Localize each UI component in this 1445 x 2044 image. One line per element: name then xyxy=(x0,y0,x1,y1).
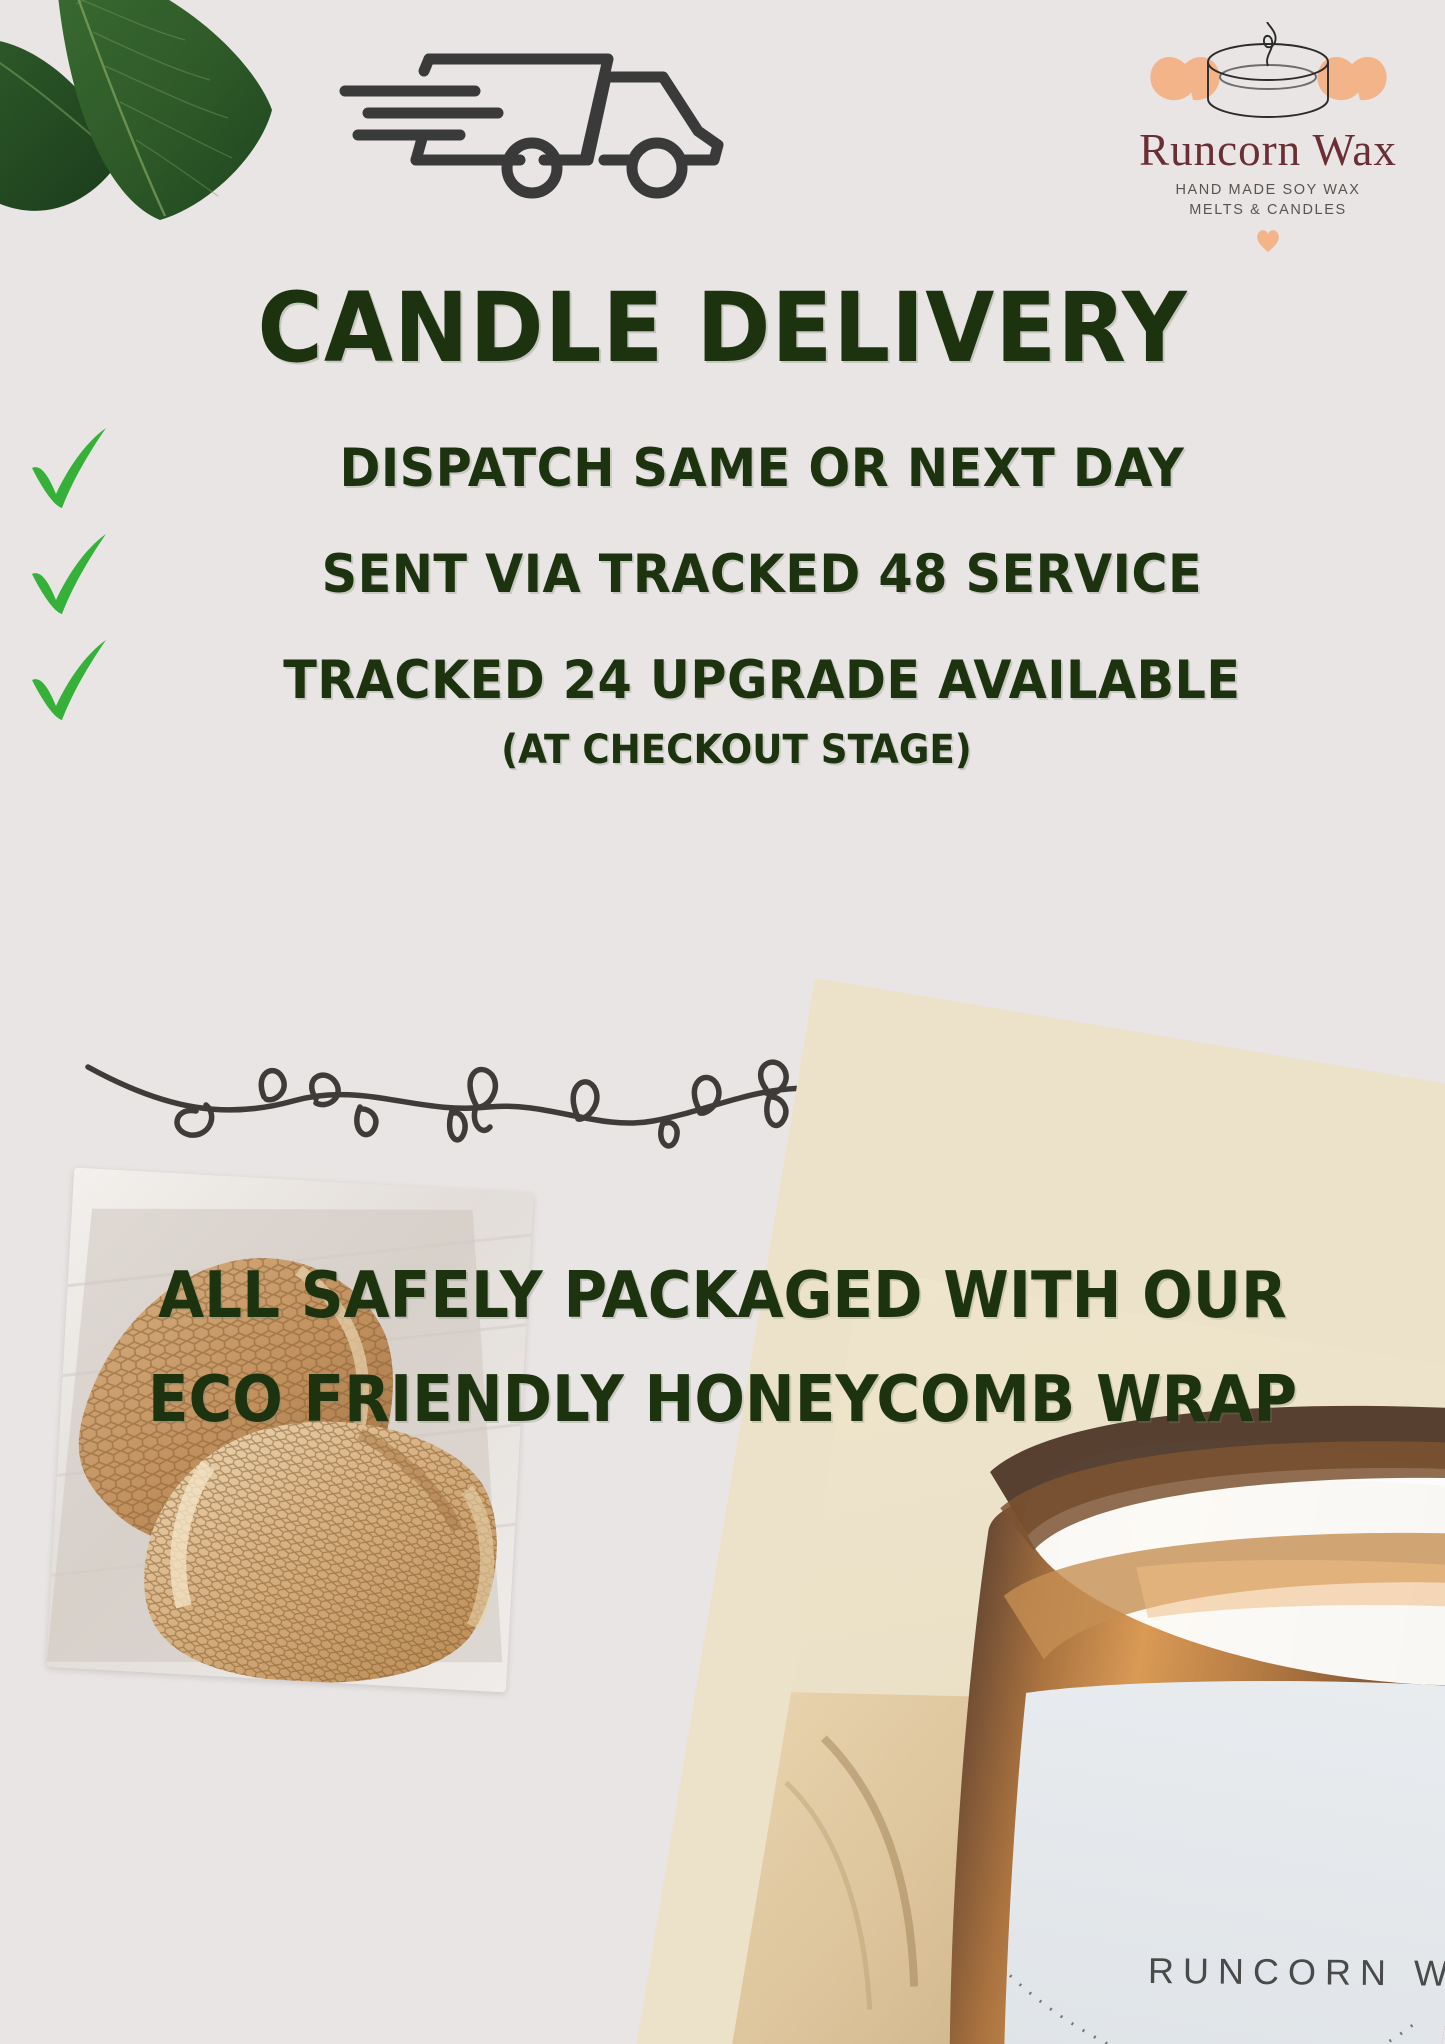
brand-tagline-line2: MELTS & CANDLES xyxy=(1175,201,1360,221)
poster-canvas: Runcorn Wax HAND MADE SOY WAX MELTS & CA… xyxy=(0,0,1445,2044)
list-item: SENT VIA TRACKED 48 SERVICE xyxy=(0,521,1445,627)
page-title: CANDLE DELIVERY xyxy=(51,272,1395,384)
green-check-icon xyxy=(20,526,116,622)
brand-name: Runcorn Wax xyxy=(1139,128,1397,173)
packaging-statement: ALL SAFELY PACKAGED WITH OUR ECO FRIENDL… xyxy=(51,1245,1395,1452)
green-check-icon xyxy=(20,632,116,728)
brand-tagline-line1: HAND MADE SOY WAX xyxy=(1175,181,1360,201)
bay-leaves-icon xyxy=(0,0,290,260)
list-item-label: DISPATCH SAME OR NEXT DAY xyxy=(163,438,1399,499)
packaging-line-1: ALL SAFELY PACKAGED WITH OUR xyxy=(51,1245,1395,1349)
tealight-candle-icon xyxy=(1141,22,1396,132)
brand-logo: Runcorn Wax HAND MADE SOY WAX MELTS & CA… xyxy=(1118,22,1418,272)
feature-list: DISPATCH SAME OR NEXT DAY SENT VIA TRACK… xyxy=(0,415,1445,773)
candle-label-text: RUNCORN WAX xyxy=(1148,1950,1445,1994)
list-item-label: SENT VIA TRACKED 48 SERVICE xyxy=(163,544,1399,605)
heart-icon xyxy=(1255,229,1281,253)
packaging-line-2: ECO FRIENDLY HONEYCOMB WRAP xyxy=(51,1349,1395,1453)
list-item: DISPATCH SAME OR NEXT DAY xyxy=(0,415,1445,521)
fast-delivery-truck-icon xyxy=(330,35,730,210)
list-item-note: (AT CHECKOUT STAGE) xyxy=(51,727,1395,773)
list-item-label: TRACKED 24 UPGRADE AVAILABLE xyxy=(163,650,1399,711)
green-check-icon xyxy=(20,420,116,516)
brand-tagline: HAND MADE SOY WAX MELTS & CANDLES xyxy=(1175,181,1360,220)
list-item: TRACKED 24 UPGRADE AVAILABLE xyxy=(0,627,1445,733)
